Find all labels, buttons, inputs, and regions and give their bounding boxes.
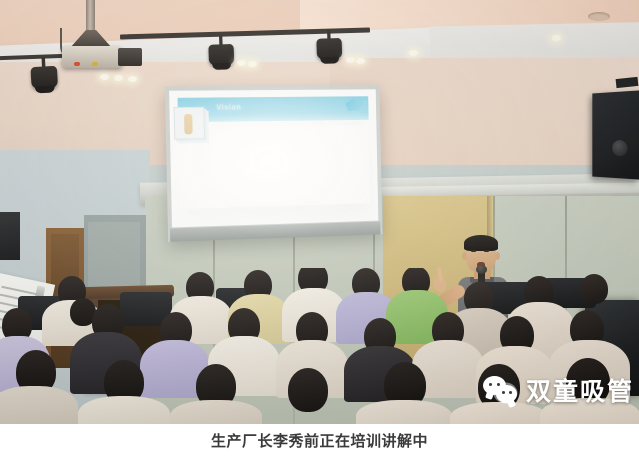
presenter-hair	[464, 235, 498, 251]
recessed-downlight	[248, 61, 257, 67]
recessed-downlight	[128, 76, 137, 82]
photo-caption-text: 生产厂长李秀前正在培训讲解中	[211, 430, 428, 451]
recessed-downlight	[237, 60, 246, 66]
slide-header-band	[178, 96, 369, 122]
presenter-eye-left	[471, 250, 476, 252]
audience-torso	[78, 396, 170, 424]
training-room-photo: Vision	[0, 0, 639, 424]
ceiling-vent	[588, 12, 610, 21]
audience-torso	[170, 400, 262, 424]
projector-status-led	[74, 62, 80, 66]
recessed-downlight	[409, 50, 418, 56]
audience-torso	[0, 386, 78, 424]
recessed-downlight	[114, 75, 123, 81]
projector-power-led	[92, 62, 98, 66]
wechat-watermark: 双童吸管	[483, 376, 634, 406]
recessed-downlight	[346, 57, 355, 63]
wechat-logo-icon	[483, 376, 519, 406]
slide-body	[178, 125, 370, 209]
audience-head	[288, 368, 328, 412]
wall-speaker-upper-right	[592, 90, 639, 179]
projector-lens	[118, 48, 142, 66]
screenshot-root: Vision	[0, 0, 639, 456]
slide-header-title: Vision	[217, 104, 242, 111]
audience-torso	[356, 400, 452, 424]
projector-mount-pole	[86, 0, 95, 34]
wall-speaker-left	[0, 212, 20, 260]
audience-head	[580, 274, 608, 304]
screen-surface: Vision	[169, 89, 378, 227]
presenter-ear-left	[462, 252, 467, 260]
watermark-brand-text: 双童吸管	[526, 379, 634, 404]
speaker-driver-icon	[612, 140, 627, 156]
slide-thumbnail-image	[174, 107, 205, 140]
photo-caption-bar: 生产厂长李秀前正在培训讲解中	[0, 424, 639, 456]
projection-screen: Vision	[165, 85, 383, 242]
recessed-downlight	[356, 58, 365, 64]
presenter-eye-right	[484, 250, 489, 252]
presenter-ear-right	[495, 252, 500, 260]
recessed-downlight	[100, 74, 109, 80]
recessed-downlight	[552, 35, 561, 41]
